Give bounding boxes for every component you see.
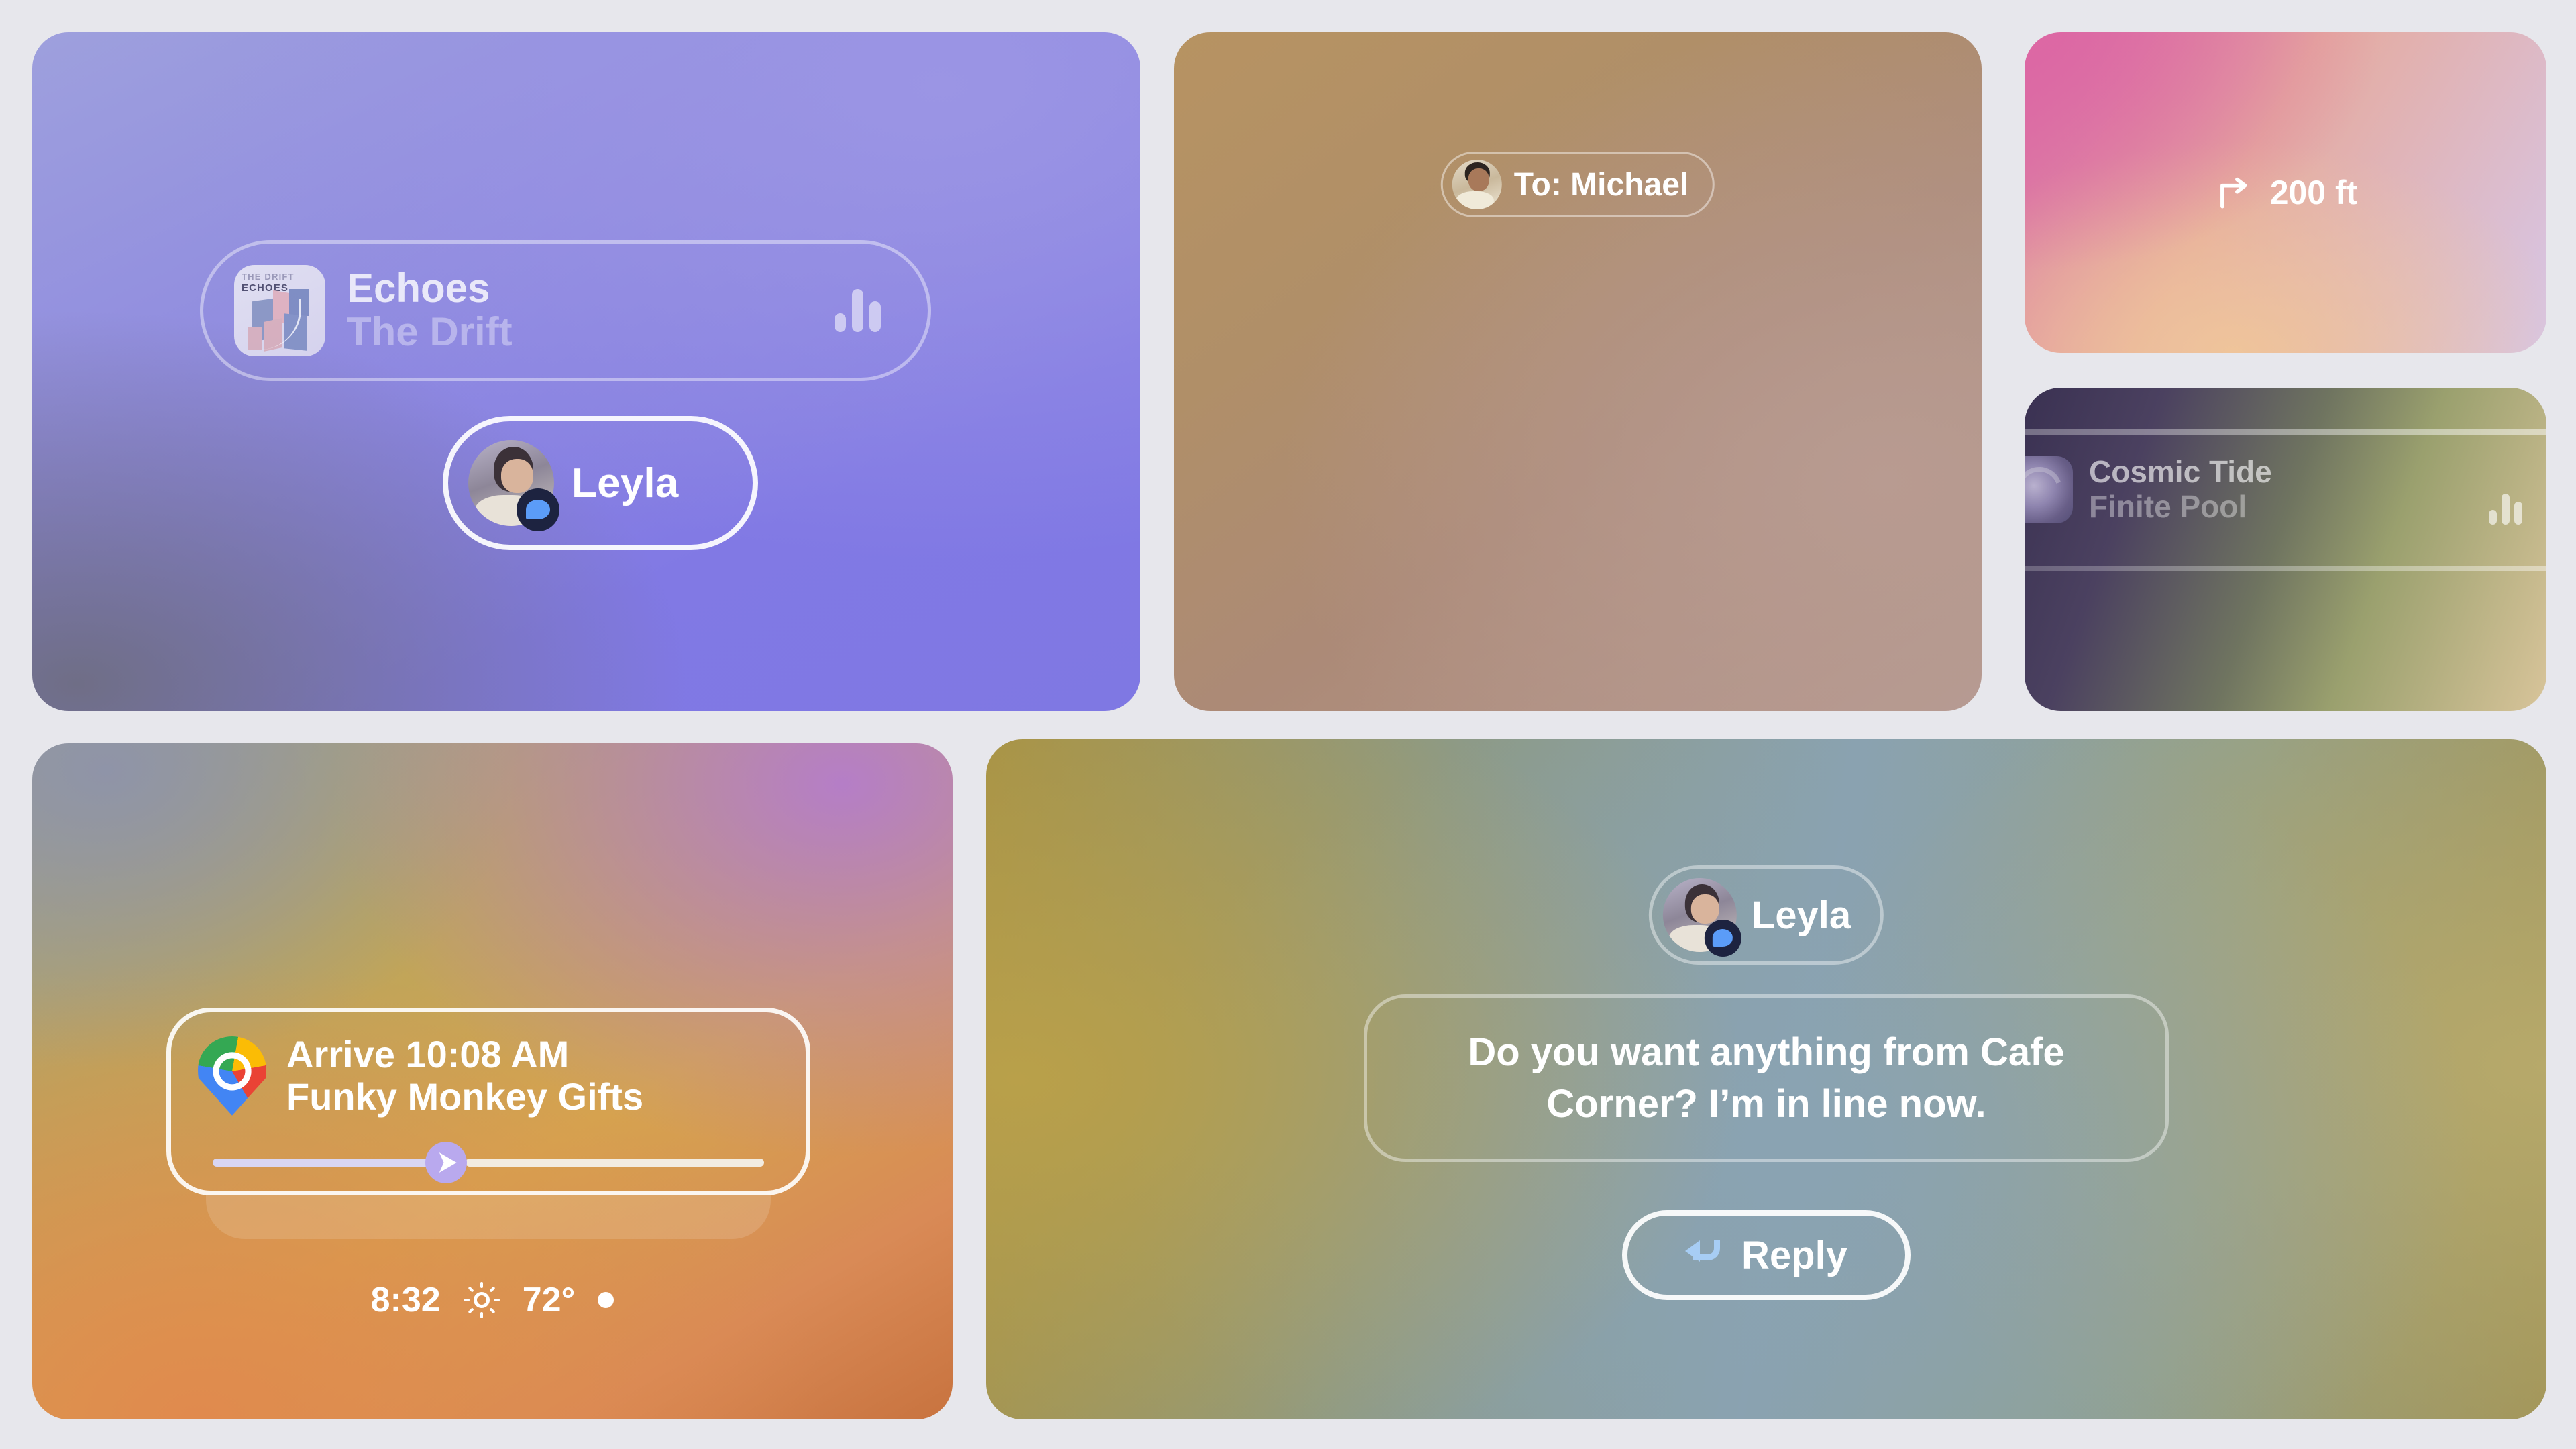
contact-chip-leyla[interactable]: Leyla [443, 416, 758, 550]
music-mini-card[interactable]: Cosmic Tide Finite Pool [2025, 388, 2546, 711]
eta-label: Arrive 10:08 AM [286, 1034, 643, 1076]
destination-label: Funky Monkey Gifts [286, 1076, 643, 1118]
widget-dashboard: THE DRIFT ECHOES Echoes The Drift [0, 0, 2576, 1449]
track-title: Cosmic Tide [2089, 455, 2272, 490]
track-title: Echoes [347, 267, 513, 311]
navigation-arrow-icon[interactable] [425, 1142, 467, 1183]
route-progress-remaining [466, 1159, 764, 1167]
avatar [1663, 878, 1737, 952]
album-art: THE DRIFT ECHOES [234, 265, 325, 356]
dot-icon [598, 1292, 614, 1308]
now-playing-bar[interactable]: THE DRIFT ECHOES Echoes The Drift [200, 240, 931, 381]
messages-bubble-icon [1704, 920, 1741, 957]
equalizer-icon [2489, 494, 2522, 525]
nav-distance: 200 ft [2270, 173, 2358, 212]
reply-button-label: Reply [1741, 1233, 1847, 1278]
track-subtitle: Finite Pool [2089, 490, 2272, 525]
track-artist: The Drift [347, 311, 513, 354]
reply-button[interactable]: Reply [1622, 1210, 1911, 1300]
message-bubble: Do you want anything from Cafe Corner? I… [1364, 994, 2169, 1162]
message-body: Do you want anything from Cafe Corner? I… [1401, 1026, 2132, 1130]
recipient-label: To: Michael [1514, 166, 1688, 203]
avatar [468, 440, 554, 526]
contact-name: Leyla [572, 460, 679, 507]
equalizer-icon [835, 289, 881, 332]
status-row: 8:32 72° [32, 1280, 953, 1320]
sun-icon [464, 1282, 500, 1318]
navigation-panel[interactable]: Arrive 10:08 AM Funky Monkey Gifts [166, 1008, 810, 1195]
album-art [2025, 456, 2073, 523]
status-time: 8:32 [371, 1280, 441, 1320]
suggested-replies-card[interactable]: To: Michael I’d love a cappuccino No tha… [1174, 32, 1982, 711]
map-pin-icon [198, 1036, 266, 1116]
media-card[interactable]: THE DRIFT ECHOES Echoes The Drift [32, 32, 1140, 711]
reply-arrow-icon [1685, 1238, 1724, 1273]
route-progress-slider[interactable] [213, 1159, 764, 1167]
message-card[interactable]: Leyla Do you want anything from Cafe Cor… [986, 739, 2546, 1419]
maps-card[interactable]: Arrive 10:08 AM Funky Monkey Gifts 8:32 [32, 743, 953, 1419]
music-track-row: Cosmic Tide Finite Pool [2025, 455, 2272, 524]
album-art-artist-label: THE DRIFT [241, 272, 294, 282]
navigation-card[interactable]: 200 ft [2025, 32, 2546, 353]
status-temperature: 72° [523, 1280, 576, 1320]
messages-bubble-icon [517, 488, 559, 531]
avatar [1452, 160, 1502, 209]
sender-name: Leyla [1752, 893, 1851, 938]
route-progress-fill [213, 1159, 433, 1167]
sender-chip[interactable]: Leyla [1649, 865, 1884, 965]
recipient-chip[interactable]: To: Michael [1441, 152, 1715, 217]
now-playing-meta: Echoes The Drift [347, 267, 513, 354]
turn-right-arrow-icon [2214, 172, 2255, 213]
